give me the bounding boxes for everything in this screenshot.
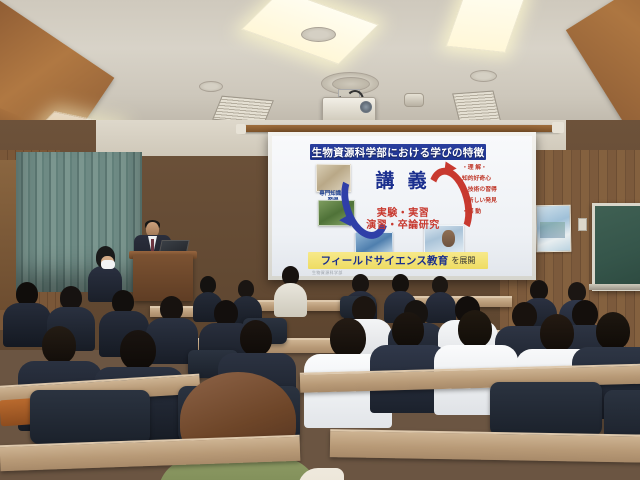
person-head	[120, 330, 156, 370]
person-head	[392, 312, 424, 348]
chalk-tray	[589, 284, 640, 290]
slide-title: 生物資源科学部における学びの特徴	[310, 144, 486, 160]
person-head	[572, 300, 598, 328]
person-head	[330, 318, 366, 358]
person-body	[425, 292, 456, 323]
slide-bottom-banner: フィールドサイエンス教育 を展開	[308, 252, 488, 269]
person-head	[458, 310, 492, 348]
slide-lower-term-line2: 演習・卒論研究	[360, 220, 446, 232]
chalkboard	[592, 203, 640, 291]
person-head	[540, 314, 574, 352]
person-body	[274, 283, 307, 317]
person-head	[512, 302, 537, 329]
light-switch-plate[interactable]	[578, 218, 587, 231]
slide-footer: 生物資源科学部	[312, 270, 343, 276]
window-curtain	[16, 152, 142, 292]
person-head	[240, 320, 272, 356]
person-head	[530, 280, 548, 300]
slide-outcome-item: ・技術の習得	[462, 185, 510, 196]
podium	[133, 255, 193, 301]
desk	[330, 429, 640, 463]
lecture-hall-photo: 生物資源科学部における学びの特徴 専門知識の 習得 講 義 実験・実習 演習・卒…	[0, 0, 640, 480]
smoke-detector-icon	[404, 93, 424, 107]
slide-banner-sub: を展開	[451, 255, 475, 266]
chair[interactable]	[490, 382, 602, 436]
slide-center-term: 講 義	[368, 166, 438, 193]
screen-rail-cap-right	[552, 122, 564, 133]
face-mask-icon	[101, 260, 115, 269]
slide-outcome-list: ・理 解・ 知的好奇心 ・技術の習得 ・新しい発見 ・感 動	[462, 163, 510, 218]
air-vent-icon-a	[301, 27, 336, 42]
person-head	[42, 326, 76, 364]
slide-lower-terms: 実験・実習 演習・卒論研究	[360, 208, 446, 232]
projector-lens-icon	[360, 101, 372, 113]
slide-outcome-item: ・理 解・	[462, 163, 510, 174]
slide-lower-term-line1: 実験・実習	[360, 208, 446, 220]
slide-outcome-item: 知的好奇心	[462, 174, 510, 185]
air-vent-icon-d	[470, 70, 497, 82]
person-head	[568, 282, 586, 302]
screen-rail-cap-left	[236, 124, 246, 134]
wall-poster-artwork	[540, 222, 565, 238]
slide-banner-main: フィールドサイエンス教育	[321, 253, 449, 268]
screen-mounting-rail	[240, 125, 560, 132]
slide-outcome-item: ・感 動	[462, 207, 510, 218]
slide-outcome-item: ・新しい発見	[462, 196, 510, 207]
person-head	[596, 312, 630, 350]
chair[interactable]	[30, 390, 150, 444]
air-vent-icon-c	[199, 81, 223, 92]
